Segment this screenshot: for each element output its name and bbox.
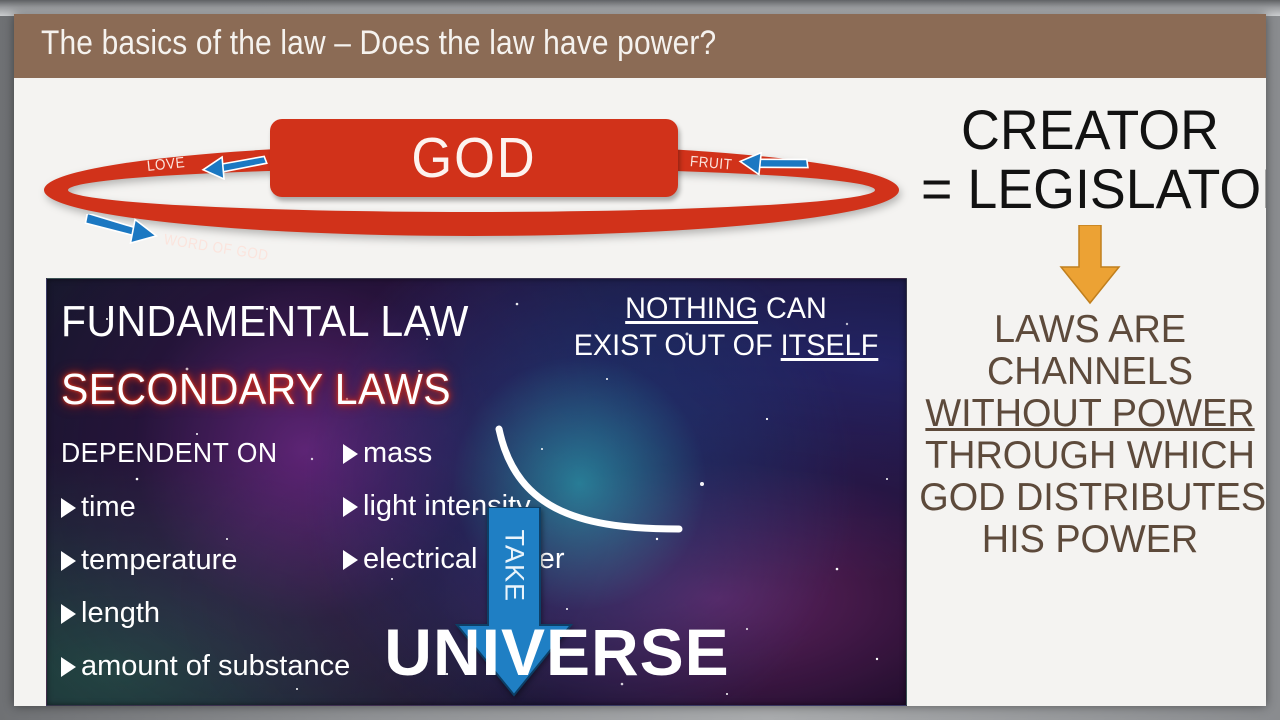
triangle-bullet-icon xyxy=(61,604,76,624)
arrow-left-fruit-icon xyxy=(736,152,812,178)
god-label: GOD xyxy=(412,125,537,191)
triangle-bullet-icon xyxy=(343,497,358,517)
statement-line2-pre: EXIST OUT OF xyxy=(574,329,781,362)
triangle-bullet-icon xyxy=(61,551,76,571)
conclusion-line-4: THROUGH WHICH xyxy=(919,435,1260,477)
conclusion-line-2: CHANNELS xyxy=(919,351,1260,393)
list-item-label: temperature xyxy=(81,544,237,577)
list-item-label: amount of substance xyxy=(81,650,350,683)
list-item-label: length xyxy=(81,597,160,630)
slide-title-bar: The basics of the law – Does the law hav… xyxy=(14,14,1266,78)
text-creator: CREATOR xyxy=(921,100,1259,159)
statement-word-nothing: NOTHING xyxy=(625,292,758,325)
text-equals-legislator: = LEGISLATOR xyxy=(921,159,1259,218)
list-item-label: time xyxy=(81,491,136,524)
conclusion-line-6: HIS POWER xyxy=(919,519,1260,561)
right-conclusion-column: CREATOR = LEGISLATOR LAWS ARE CHANNELS W… xyxy=(914,100,1266,561)
statement-word-itself: ITSELF xyxy=(781,329,879,362)
heading-fundamental-law: FUNDAMENTAL LAW xyxy=(61,297,469,347)
list-item-label: mass xyxy=(363,437,432,470)
page-title: The basics of the law – Does the law hav… xyxy=(41,24,716,63)
universe-image-panel: FUNDAMENTAL LAW SECONDARY LAWS DEPENDENT… xyxy=(46,278,907,706)
slide-canvas: The basics of the law – Does the law hav… xyxy=(14,14,1266,706)
conclusion-line-1: LAWS ARE xyxy=(919,309,1260,351)
conclusion-line-5: GOD DISTRIBUTES xyxy=(919,477,1260,519)
arrow-right-word-icon xyxy=(79,214,163,244)
list-item: mass xyxy=(343,437,564,470)
arrow-down-orange-icon xyxy=(1059,225,1121,305)
triangle-bullet-icon xyxy=(61,657,76,677)
conclusion-line-3-underline: WITHOUT POWER xyxy=(925,392,1254,435)
statement-line1-rest: CAN xyxy=(758,292,827,325)
list-item: time xyxy=(61,491,350,524)
label-dependent-on: DEPENDENT ON xyxy=(61,437,278,469)
window-frame: The basics of the law – Does the law hav… xyxy=(0,0,1280,720)
conclusion-line-3: WITHOUT POWER xyxy=(919,393,1260,435)
cycle-label-word-of-god: WORD OF GOD xyxy=(163,231,270,264)
list-item: amount of substance xyxy=(61,650,350,683)
triangle-bullet-icon xyxy=(343,444,358,464)
heading-secondary-laws: SECONDARY LAWS xyxy=(61,365,451,415)
bullet-list-left: time temperature length amount of substa… xyxy=(61,491,350,703)
take-arrow-label: TAKE xyxy=(499,530,530,596)
cycle-label-fruit: FRUIT xyxy=(689,153,733,174)
statement-nothing-can-exist: NOTHING CAN EXIST OUT OF ITSELF xyxy=(558,291,894,364)
triangle-bullet-icon xyxy=(61,498,76,518)
universe-big-word: UNIVERSE xyxy=(347,614,767,690)
list-item: length xyxy=(61,597,350,630)
god-box: GOD xyxy=(270,119,678,197)
triangle-bullet-icon xyxy=(343,550,358,570)
arrow-left-love-icon xyxy=(199,154,271,180)
list-item: temperature xyxy=(61,544,350,577)
